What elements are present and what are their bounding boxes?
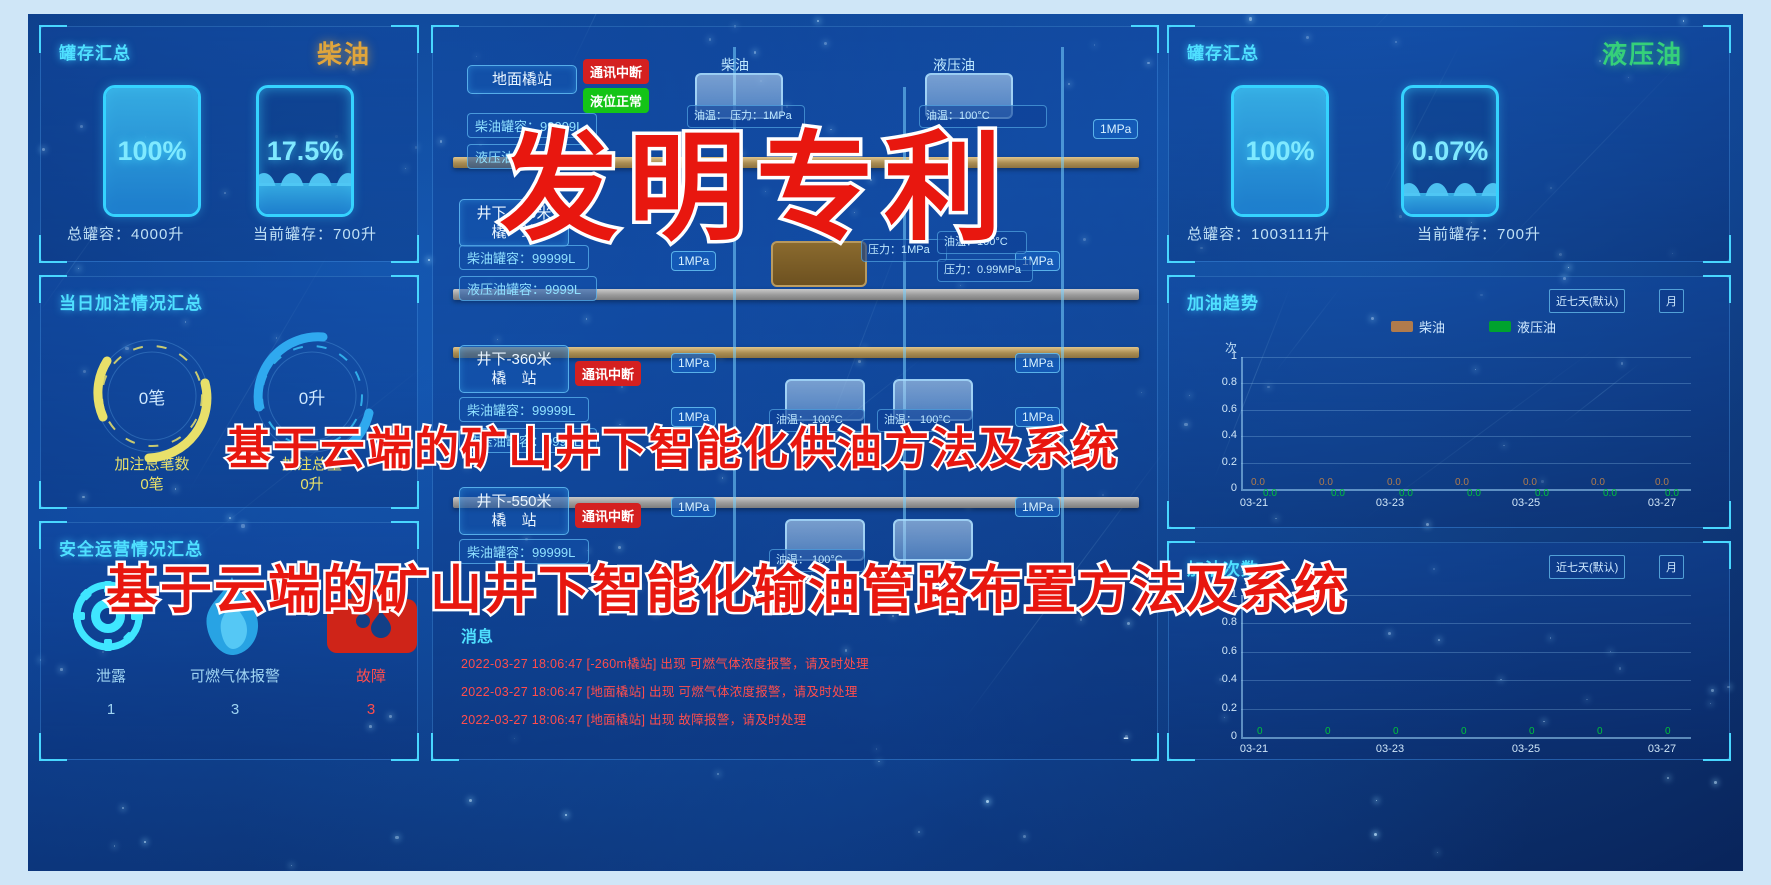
trend-point-label-4: 0.0 — [1523, 477, 1537, 488]
count-range-month-button[interactable]: 月 — [1659, 555, 1684, 579]
gauge-total-value-diesel: 100% — [106, 136, 198, 167]
station-name-surface[interactable]: 地面橇站 — [467, 65, 577, 94]
mpa-tag-550-b: 1MPa — [1015, 497, 1060, 517]
gauge-total-capacity-diesel: 100% — [103, 85, 201, 217]
trend-x-axis — [1241, 489, 1691, 491]
station-name-360-line2: 橇 站 — [491, 370, 536, 387]
safety-label-gas: 可燃气体报警 — [175, 665, 295, 686]
trend-legend-diesel[interactable]: 柴油 — [1391, 317, 1445, 336]
panel-title-daily-refuel: 当日加注情况汇总 — [59, 289, 203, 314]
total-capacity-label-hydraulic: 总罐容：1003111升 — [1187, 223, 1330, 244]
trend-gridline-04 — [1241, 436, 1691, 437]
trunk-pipe-right — [1061, 47, 1064, 607]
legend-label-diesel: 柴油 — [1419, 317, 1445, 336]
product-label-hydraulic: 液压油 — [1602, 35, 1683, 71]
screen-frame: 罐存汇总 柴油 100% 17.5% 总罐容：4000升 当前罐存：700升 当… — [0, 0, 1771, 885]
station-name-550-line1: 井下-550米 — [476, 493, 551, 510]
readout-200-press099-text: 压力：0.99MPa — [944, 264, 1021, 276]
overlay-title-line-2: 基于云端的矿山井下智能化输油管路布置方法及系统 — [106, 548, 1348, 623]
trend-point-label-5: 0.0 — [1591, 477, 1605, 488]
count-point-label-1: 0 — [1325, 726, 1331, 737]
count-xtick-1: 03-23 — [1365, 743, 1415, 755]
station-tag-surface-comm: 通讯中断 — [583, 59, 649, 84]
safety-value-gas: 3 — [175, 701, 295, 718]
panel-title-trend: 加油趋势 — [1187, 289, 1259, 314]
trend-gridline-06 — [1241, 410, 1691, 411]
gauge-current-stock-hydraulic: 0.07% — [1401, 85, 1499, 217]
trend-ytick-08: 0.8 — [1209, 376, 1237, 388]
oil-name-surface-hydraulic: 液压油 — [933, 55, 975, 75]
trend-ytick-1: 1 — [1213, 350, 1237, 362]
overlay-patent-badge: 发明专利 — [500, 92, 1012, 263]
trend-gridline-1 — [1241, 357, 1691, 358]
count-x-axis — [1241, 737, 1691, 739]
message-line-1: 2022-03-27 18:06:47 [-260m橇站] 出现 可燃气体浓度报… — [461, 653, 869, 672]
ring-value-refuel-count: 0笔 — [77, 321, 227, 471]
product-label-diesel: 柴油 — [317, 35, 371, 71]
panel-title-left-tank: 罐存汇总 — [59, 39, 131, 64]
count-ytick-0: 0 — [1213, 730, 1237, 742]
caption-refuel-volume-value: 0升 — [300, 476, 323, 493]
panel-refuel-trend-chart: 加油趋势 近七天(默认) 月 柴油 液压油 次 1 0.8 0.6 0.4 0.… — [1168, 276, 1730, 528]
count-point-label-2: 0 — [1393, 726, 1399, 737]
mpa-tag-550-a: 1MPa — [671, 497, 716, 517]
gauge-current-stock-diesel: 17.5% — [256, 85, 354, 217]
mpa-tag-surface-right: 1MPa — [1093, 119, 1138, 139]
message-line-3: 2022-03-27 18:06:47 [地面橇站] 出现 故障报警，请及时处理 — [461, 709, 806, 728]
oil-name-surface-diesel: 柴油 — [721, 55, 749, 75]
trend-plot-area: 1 0.8 0.6 0.4 0.2 0 0.0 0.0 0.0 0.0 0.0 … — [1241, 357, 1691, 489]
count-point-label-0: 0 — [1257, 726, 1263, 737]
trend-y-axis — [1241, 357, 1243, 489]
gauge-total-value-hydraulic: 100% — [1234, 136, 1326, 167]
trend-legend-hydraulic[interactable]: 液压油 — [1489, 317, 1556, 336]
gauge-current-value-diesel: 17.5% — [259, 136, 351, 167]
trend-point-label-h-3: 0.0 — [1467, 488, 1481, 499]
count-point-label-5: 0 — [1597, 726, 1603, 737]
gauge-current-value-hydraulic: 0.07% — [1404, 136, 1496, 167]
trend-point-label-0: 0.0 — [1251, 477, 1265, 488]
count-gridline-08 — [1241, 623, 1691, 624]
safety-value-leak: 1 — [81, 701, 141, 718]
trend-point-label-2: 0.0 — [1387, 477, 1401, 488]
station-name-360-line1: 井下-360米 — [476, 351, 551, 368]
trend-point-label-6: 0.0 — [1655, 477, 1669, 488]
safety-label-fault: 故障 — [341, 665, 401, 686]
caption-refuel-count: 加注总笔数 0笔 — [97, 455, 207, 495]
count-range-week-button[interactable]: 近七天(默认) — [1549, 555, 1625, 579]
count-ytick-04: 0.4 — [1209, 673, 1237, 685]
dashboard-stage: 罐存汇总 柴油 100% 17.5% 总罐容：4000升 当前罐存：700升 当… — [28, 14, 1743, 871]
count-gridline-06 — [1241, 652, 1691, 653]
station-cap-200-hydraulic: 液压油罐容：9999L — [459, 276, 597, 301]
legend-swatch-hydraulic — [1489, 321, 1511, 332]
trend-ytick-0: 0 — [1213, 482, 1237, 494]
trend-ytick-02: 0.2 — [1209, 456, 1237, 468]
trend-ytick-06: 0.6 — [1209, 403, 1237, 415]
count-xtick-0: 03-21 — [1229, 743, 1279, 755]
station-name-360[interactable]: 井下-360米 橇 站 — [459, 345, 569, 393]
mpa-tag-360-b: 1MPa — [1015, 353, 1060, 373]
count-ytick-02: 0.2 — [1209, 702, 1237, 714]
overlay-title-line-1: 基于云端的矿山井下智能化供油方法及系统 — [226, 412, 1119, 477]
trend-point-label-h-5: 0.0 — [1603, 488, 1617, 499]
panel-right-tank-summary: 罐存汇总 液压油 100% 0.07% 总罐容：1003111升 当前罐存：70… — [1168, 26, 1730, 262]
count-point-label-6: 0 — [1665, 726, 1671, 737]
count-ytick-06: 0.6 — [1209, 645, 1237, 657]
trend-gridline-08 — [1241, 383, 1691, 384]
mpa-tag-360-a: 1MPa — [671, 353, 716, 373]
safety-value-fault: 3 — [341, 701, 401, 718]
gauge-total-capacity-hydraulic: 100% — [1231, 85, 1329, 217]
count-gridline-04 — [1241, 680, 1691, 681]
trend-point-label-1: 0.0 — [1319, 477, 1333, 488]
trend-point-label-3: 0.0 — [1455, 477, 1469, 488]
trend-range-month-button[interactable]: 月 — [1659, 289, 1684, 313]
legend-label-hydraulic: 液压油 — [1517, 317, 1556, 336]
trend-ytick-04: 0.4 — [1209, 429, 1237, 441]
current-stock-label-hydraulic: 当前罐存：700升 — [1417, 223, 1541, 244]
trend-gridline-02 — [1241, 463, 1691, 464]
legend-swatch-diesel — [1391, 321, 1413, 332]
trend-range-week-button[interactable]: 近七天(默认) — [1549, 289, 1625, 313]
caption-refuel-count-title: 加注总笔数 — [114, 456, 189, 473]
trend-xtick-3: 03-27 — [1637, 497, 1687, 509]
station-tag-360-comm: 通讯中断 — [575, 361, 641, 386]
safety-label-leak: 泄露 — [81, 665, 141, 686]
messages-title: 消息 — [461, 623, 493, 647]
ring-gauge-refuel-count: 0笔 — [77, 321, 227, 471]
message-line-2: 2022-03-27 18:06:47 [地面橇站] 出现 可燃气体浓度报警，请… — [461, 681, 858, 700]
station-name-550-line2: 橇 站 — [491, 512, 536, 529]
station-tag-550-comm: 通讯中断 — [575, 503, 641, 528]
count-gridline-02 — [1241, 709, 1691, 710]
trend-xtick-0: 03-21 — [1229, 497, 1279, 509]
total-capacity-label-diesel: 总罐容：4000升 — [67, 223, 184, 244]
zoom-out-button[interactable]: - — [1123, 727, 1129, 748]
trend-xtick-1: 03-23 — [1365, 497, 1415, 509]
current-stock-label-diesel: 当前罐存：700升 — [253, 223, 377, 244]
count-point-label-4: 0 — [1529, 726, 1535, 737]
caption-refuel-count-value: 0笔 — [140, 476, 163, 493]
trend-point-label-h-1: 0.0 — [1331, 488, 1345, 499]
count-xtick-2: 03-25 — [1501, 743, 1551, 755]
station-name-550[interactable]: 井下-550米 橇 站 — [459, 487, 569, 535]
trend-xtick-2: 03-25 — [1501, 497, 1551, 509]
count-point-label-3: 0 — [1461, 726, 1467, 737]
count-xtick-3: 03-27 — [1637, 743, 1687, 755]
panel-left-tank-summary: 罐存汇总 柴油 100% 17.5% 总罐容：4000升 当前罐存：700升 — [40, 26, 418, 262]
panel-title-right-tank: 罐存汇总 — [1187, 39, 1259, 64]
